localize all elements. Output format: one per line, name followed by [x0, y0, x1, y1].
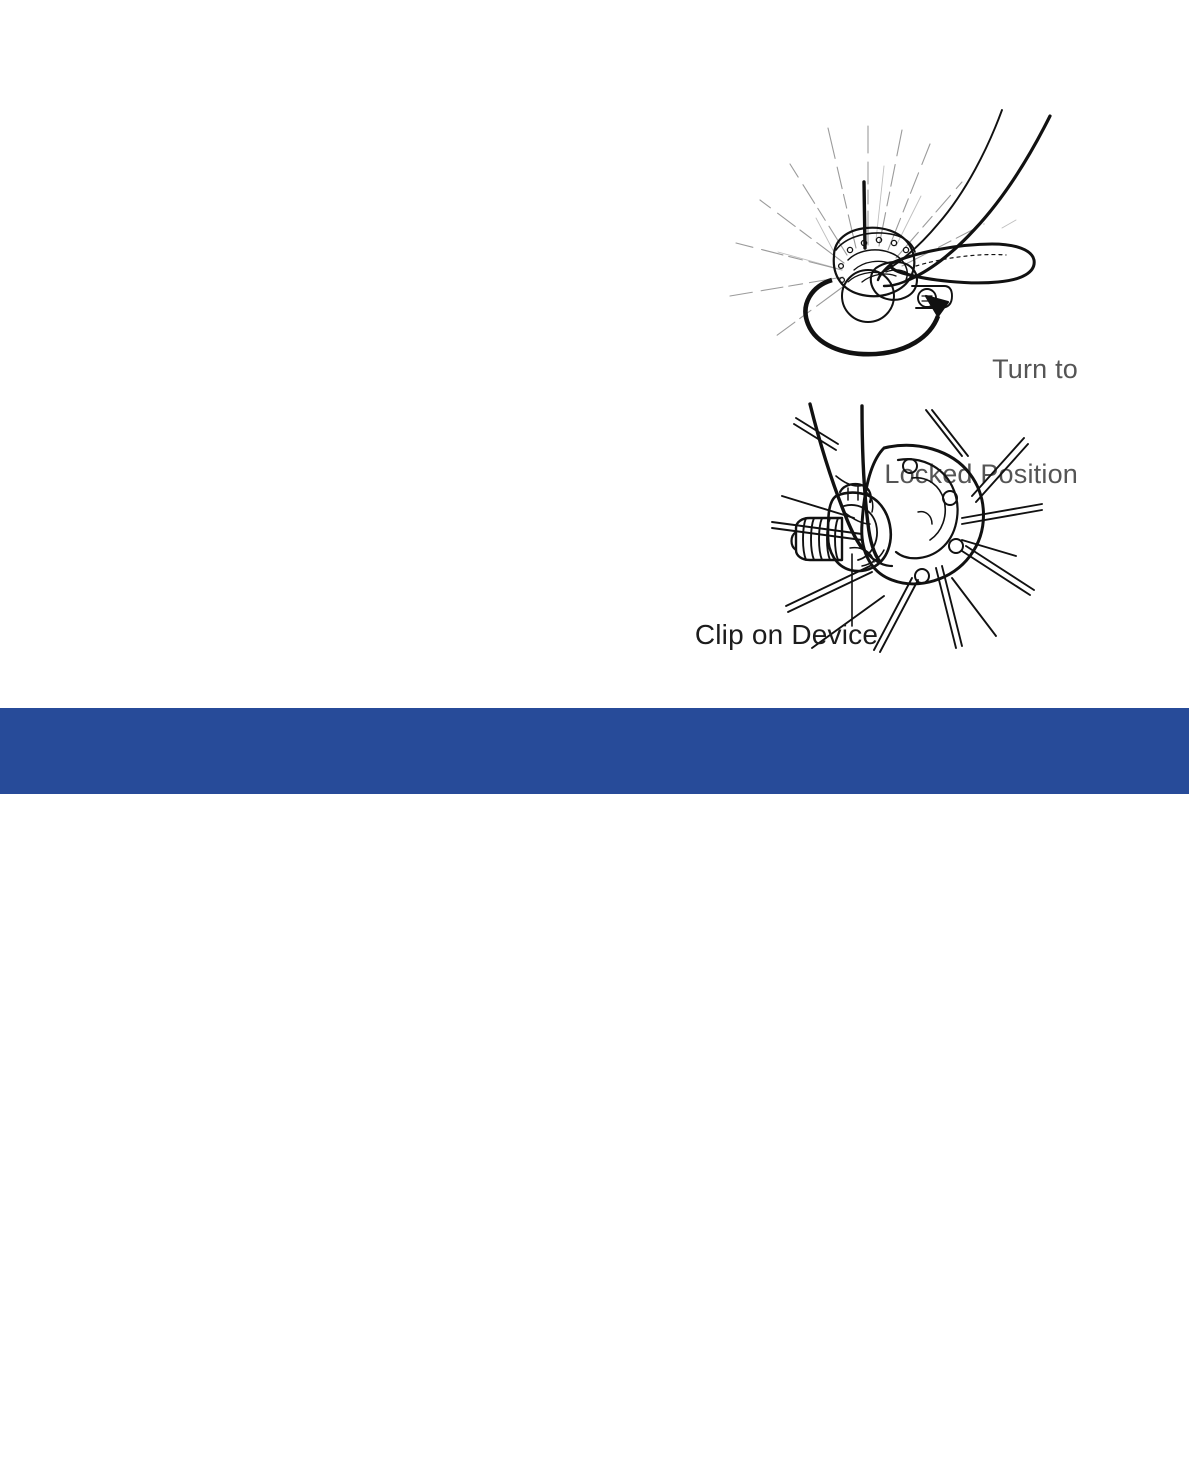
footer-band: [0, 708, 1189, 794]
caption-line-1: Turn to: [884, 352, 1078, 387]
slide-canvas: Turn to Locked Position: [0, 0, 1191, 794]
tebco-logo: [789, 1446, 861, 1472]
caption-clip-on-device: Clip on Device: [191, 617, 1191, 652]
